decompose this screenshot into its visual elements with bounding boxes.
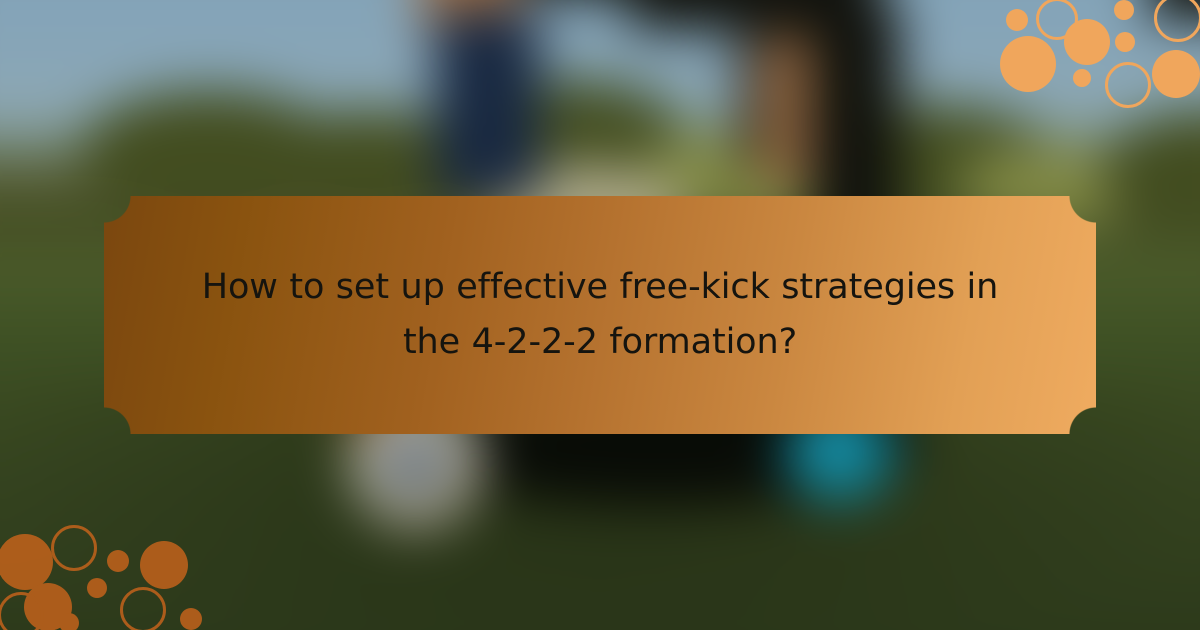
decor-circle-fill (87, 578, 107, 598)
decor-circle-fill (180, 608, 202, 630)
decor-circle-fill (107, 550, 129, 572)
decor-circle-fill (0, 534, 53, 590)
decor-circle-fill (140, 541, 188, 589)
decor-circle-ring (120, 587, 166, 630)
decor-circle-ring (51, 525, 97, 571)
decor-circle-fill (59, 613, 79, 630)
headline-card: How to set up effective free-kick strate… (104, 196, 1096, 434)
social-card-canvas: How to set up effective free-kick strate… (0, 0, 1200, 630)
page-title: How to set up effective free-kick strate… (200, 260, 1000, 371)
